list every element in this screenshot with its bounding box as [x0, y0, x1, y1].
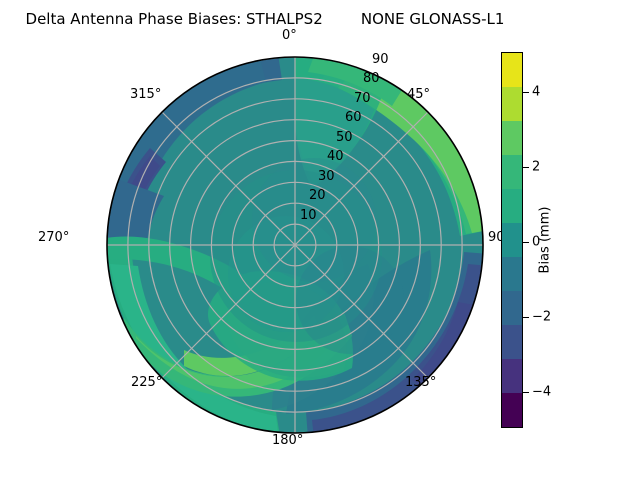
colorbar-tick-4 [523, 92, 529, 93]
colorbar-tick-neg4 [523, 392, 529, 393]
colorbar-band-9 [502, 87, 522, 121]
colorbar-band-10 [502, 53, 522, 87]
radial-label-70: 70 [354, 91, 371, 106]
radial-label-40: 40 [327, 149, 344, 164]
polar-plot: 0° 45° 90° 135° 180° 225° 270° 315° 10 2… [100, 50, 490, 440]
colorbar-band-1 [502, 359, 522, 393]
radial-label-90: 90 [372, 52, 389, 67]
colorbar-ticklabel-2: 2 [532, 161, 540, 174]
radial-label-10: 10 [300, 208, 317, 223]
radial-label-80: 80 [363, 71, 380, 86]
azimuth-label-45: 45° [407, 87, 430, 102]
colorbar-band-5 [502, 223, 522, 257]
colorbar-ticklabel-neg4: −4 [532, 386, 551, 399]
colorbar-ticklabel-4: 4 [532, 86, 540, 99]
colorbar-band-3 [502, 291, 522, 325]
radial-label-30: 30 [318, 169, 335, 184]
colorbar-band-0 [502, 393, 522, 427]
colorbar-tick-neg2 [523, 317, 529, 318]
azimuth-label-135: 135° [405, 375, 436, 390]
azimuth-label-315: 315° [130, 87, 161, 102]
azimuth-label-270: 270° [38, 230, 69, 245]
radial-label-50: 50 [336, 130, 353, 145]
colorbar-band-2 [502, 325, 522, 359]
colorbar-band-8 [502, 121, 522, 155]
colorbar-ticklabel-neg2: −2 [532, 311, 551, 324]
colorbar-tick-2 [523, 167, 529, 168]
azimuth-label-0: 0° [282, 28, 297, 43]
colorbar-band-4 [502, 257, 522, 291]
colorbar-tick-0 [523, 242, 529, 243]
azimuth-label-225: 225° [131, 375, 162, 390]
colorbar-gradient-strip [501, 52, 523, 428]
azimuth-label-180: 180° [272, 433, 303, 448]
colorbar-band-7 [502, 155, 522, 189]
colorbar: 4 2 0 −2 −4 [501, 52, 523, 428]
radial-label-60: 60 [345, 110, 362, 125]
colorbar-axis-label: Bias (mm) [538, 207, 553, 274]
radial-label-20: 20 [309, 188, 326, 203]
page-title: Delta Antenna Phase Biases: STHALPS2 NON… [0, 10, 530, 28]
colorbar-band-6 [502, 189, 522, 223]
